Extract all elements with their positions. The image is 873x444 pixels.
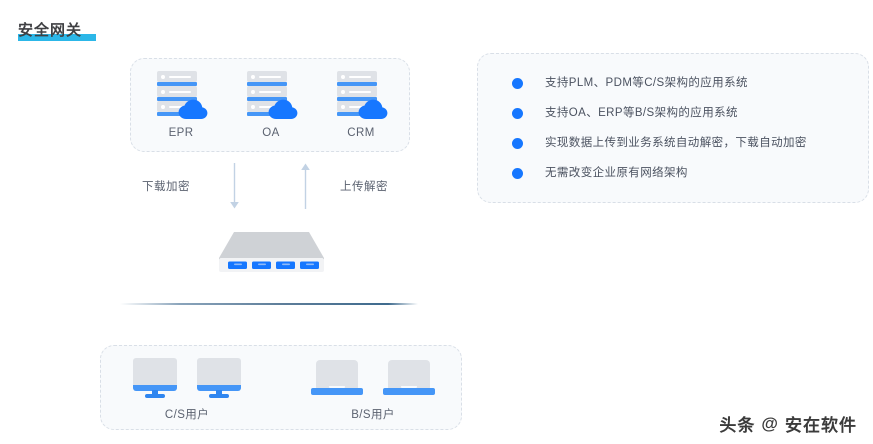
cloud-icon	[178, 99, 208, 120]
feature-text: 支持OA、ERP等B/S架构的应用系统	[545, 106, 738, 120]
feature-list-item: 实现数据上传到业务系统自动解密，下载自动加密	[478, 136, 868, 150]
watermark-account: 安在软件	[785, 411, 857, 436]
server-rack-unit	[337, 71, 377, 82]
bullet-dot-icon	[512, 78, 523, 89]
bullet-dot-icon	[512, 168, 523, 179]
slide-canvas: 安全网关 EPR	[0, 0, 873, 444]
feature-list-item: 支持OA、ERP等B/S架构的应用系统	[478, 106, 868, 120]
flow-label-upload-decrypt: 上传解密	[340, 178, 388, 194]
server-rack-unit	[247, 71, 287, 82]
application-system-oa[interactable]: OA	[229, 71, 313, 139]
application-systems-panel: EPR OA	[130, 58, 410, 152]
page-title-block: 安全网关	[18, 22, 82, 40]
user-group-bs[interactable]: B/S用户	[299, 356, 447, 422]
cloud-icon	[358, 99, 388, 120]
feature-list-item: 支持PLM、PDM等C/S架构的应用系统	[478, 76, 868, 90]
user-group-label: B/S用户	[299, 406, 447, 422]
server-rack-unit	[247, 86, 287, 97]
feature-list-item: 无需改变企业原有网络架构	[478, 166, 868, 180]
watermark-source: 头条	[719, 411, 755, 436]
laptop-icon	[383, 358, 435, 400]
application-system-crm[interactable]: CRM	[319, 71, 403, 139]
server-cloud-icon	[245, 71, 297, 119]
network-gateway-device-icon[interactable]	[214, 228, 329, 278]
section-divider	[120, 303, 418, 305]
end-users-panel: C/S用户 B/S用户	[100, 345, 462, 430]
application-system-label: EPR	[139, 127, 223, 139]
user-group-cs[interactable]: C/S用户	[117, 356, 257, 422]
features-panel: 支持PLM、PDM等C/S架构的应用系统 支持OA、ERP等B/S架构的应用系统…	[477, 53, 869, 203]
watermark-at-symbol: @	[761, 414, 779, 434]
application-system-label: OA	[229, 127, 313, 139]
device-row	[117, 356, 257, 400]
feature-text: 支持PLM、PDM等C/S架构的应用系统	[545, 76, 748, 90]
bullet-dot-icon	[512, 138, 523, 149]
server-rack-unit	[337, 86, 377, 97]
arrow-up-icon	[297, 163, 314, 209]
flow-label-download-encrypt: 下载加密	[142, 178, 190, 194]
server-rack-unit	[157, 86, 197, 97]
desktop-monitor-icon	[197, 358, 241, 400]
page-title: 安全网关	[18, 22, 82, 40]
application-system-label: CRM	[319, 127, 403, 139]
server-cloud-icon	[335, 71, 387, 119]
feature-text: 实现数据上传到业务系统自动解密，下载自动加密	[545, 136, 807, 150]
user-group-label: C/S用户	[117, 406, 257, 422]
cloud-icon	[268, 99, 298, 120]
application-system-epr[interactable]: EPR	[139, 71, 223, 139]
server-cloud-icon	[155, 71, 207, 119]
server-rack-unit	[157, 71, 197, 82]
feature-list: 支持PLM、PDM等C/S架构的应用系统 支持OA、ERP等B/S架构的应用系统…	[478, 54, 868, 180]
laptop-icon	[311, 358, 363, 400]
bullet-dot-icon	[512, 108, 523, 119]
device-row	[299, 356, 447, 400]
feature-text: 无需改变企业原有网络架构	[545, 166, 688, 180]
arrow-down-icon	[226, 163, 243, 209]
desktop-monitor-icon	[133, 358, 177, 400]
watermark: 头条 @ 安在软件	[719, 411, 857, 436]
